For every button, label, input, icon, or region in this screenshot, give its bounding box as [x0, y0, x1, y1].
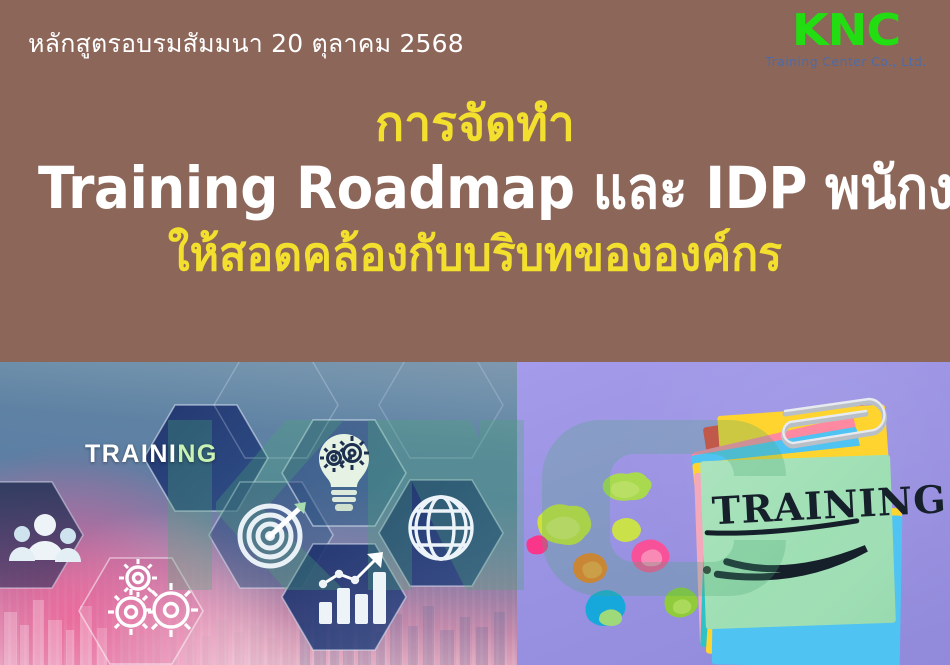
photo-training-hexagons: TRAINING: [0, 362, 517, 665]
paper-ball-green-bottom: [664, 587, 698, 617]
title-line-2: Training Roadmap และ IDP พนักงาน: [38, 152, 912, 224]
paper-ball-orange: [573, 553, 607, 583]
paper-ball-lightgreen-mid: [612, 518, 641, 542]
training-caption: TRAINING: [85, 440, 218, 469]
paper-ball-pink-small: [527, 535, 549, 554]
title-line-3: ให้สอดคล้องกับบริบทขององค์กร: [24, 224, 927, 286]
gears-icon: [108, 559, 198, 637]
title-block: การจัดทำ Training Roadmap และ IDP พนักงา…: [0, 96, 950, 286]
header-band: หลักสูตรอบรมสัมมนา 20 ตุลาคม 2568 KNC Tr…: [0, 0, 950, 362]
training-caption-tail: NG: [177, 440, 218, 468]
training-caption-head: TRAINI: [85, 440, 177, 468]
course-date-label: หลักสูตรอบรมสัมมนา 20 ตุลาคม 2568: [28, 24, 464, 64]
sticky-notes-illustration: TRAINING: [517, 362, 950, 665]
hex-icon-layer: [0, 362, 517, 665]
paper-ball-green-top: [603, 472, 652, 501]
photo-strip: TRAINING: [0, 362, 950, 665]
people-group-icon: [9, 514, 81, 562]
bar-chart-arrow-icon: [319, 552, 386, 624]
paper-ball-blue: [585, 590, 625, 626]
knc-logo: KNC Training Center Co., Ltd.: [756, 8, 936, 78]
photo-sticky-notes: TRAINING: [517, 362, 950, 665]
crumpled-paper-balls: [527, 472, 699, 626]
poster-canvas: หลักสูตรอบรมสัมมนา 20 ตุลาคม 2568 KNC Tr…: [0, 0, 950, 665]
paper-ball-pink: [631, 539, 669, 572]
globe-grid-icon: [410, 497, 472, 559]
lightbulb-gears-icon: [319, 434, 369, 511]
target-dartboard-icon: [240, 502, 306, 566]
logo-subtitle: Training Center Co., Ltd.: [756, 54, 936, 69]
title-line-1: การจัดทำ: [0, 96, 950, 152]
hole-punch: [703, 566, 711, 574]
logo-wordmark: KNC: [749, 8, 943, 54]
